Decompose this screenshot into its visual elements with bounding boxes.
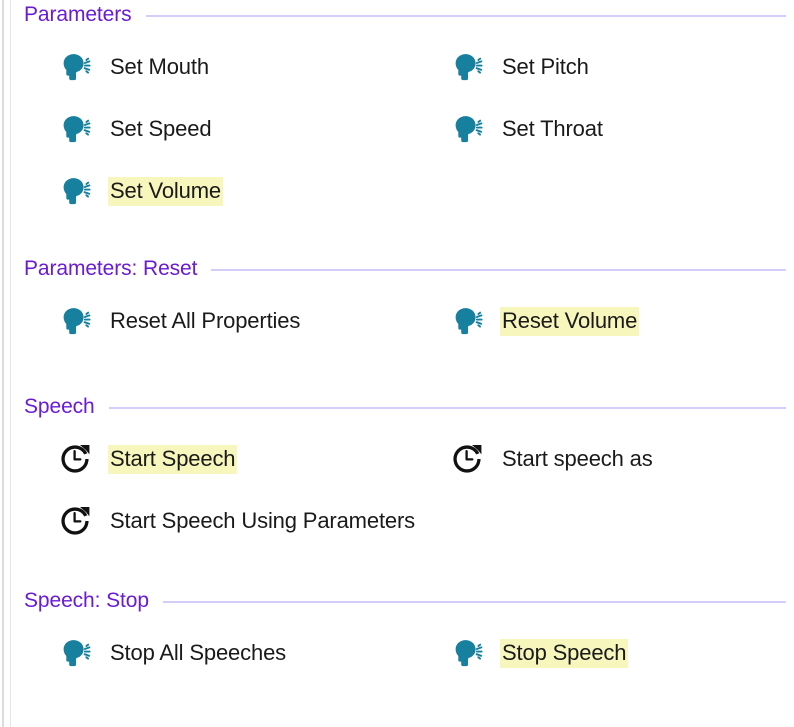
palette-item[interactable]: Reset All Properties	[58, 304, 302, 338]
palette-cell: Set Mouth	[0, 36, 425, 98]
palette-item[interactable]: Set Pitch	[450, 50, 591, 84]
speaking-head-icon	[450, 50, 484, 84]
palette-cell: Set Throat	[425, 98, 794, 160]
section-title: Speech: Stop	[24, 589, 149, 613]
section-items: Reset All PropertiesReset Volume	[0, 284, 794, 352]
palette-item-label[interactable]: Start Speech Using Parameters	[108, 507, 417, 536]
palette-item-label[interactable]: Start speech as	[500, 445, 655, 474]
section-header: Parameters: Reset	[0, 254, 794, 284]
palette-row: Set SpeedSet Throat	[0, 98, 794, 160]
palette-row: Start SpeechStart speech as	[0, 428, 794, 490]
palette-item-label[interactable]: Set Mouth	[108, 53, 211, 82]
palette-cell: Set Volume	[0, 160, 425, 222]
speaking-head-icon	[58, 636, 92, 670]
section-items: Stop All SpeechesStop Speech	[0, 616, 794, 684]
speaking-head-icon	[450, 304, 484, 338]
section-items: Start SpeechStart speech asStart Speech …	[0, 422, 794, 552]
palette-row: Set Volume	[0, 160, 794, 222]
palette-cell: Reset All Properties	[0, 290, 425, 352]
palette-cell: Start Speech	[0, 428, 425, 490]
clock-restore-icon	[58, 442, 92, 476]
speaking-head-icon	[58, 304, 92, 338]
palette-section: Parameters: ResetReset All PropertiesRes…	[0, 254, 794, 352]
palette-item-label[interactable]: Set Throat	[500, 115, 605, 144]
clock-restore-icon	[450, 442, 484, 476]
speaking-head-icon	[450, 112, 484, 146]
palette-item[interactable]: Set Speed	[58, 112, 213, 146]
palette-item-label[interactable]: Start Speech	[108, 445, 237, 474]
palette-item-label[interactable]: Stop All Speeches	[108, 639, 288, 668]
section-title: Speech	[24, 395, 95, 419]
section-divider	[163, 601, 786, 603]
palette-item[interactable]: Set Mouth	[58, 50, 211, 84]
palette-item[interactable]: Set Throat	[450, 112, 605, 146]
palette-item[interactable]: Start Speech	[58, 442, 237, 476]
section-divider	[211, 269, 786, 271]
palette-row: Reset All PropertiesReset Volume	[0, 290, 794, 352]
clock-restore-icon	[58, 504, 92, 538]
palette-item[interactable]: Stop Speech	[450, 636, 628, 670]
palette-row: Stop All SpeechesStop Speech	[0, 622, 794, 684]
palette-cell: Start speech as	[425, 428, 794, 490]
section-header: Speech: Stop	[0, 586, 794, 616]
palette-cell: Set Pitch	[425, 36, 794, 98]
palette-cell: Start Speech Using Parameters	[0, 490, 425, 552]
block-palette: ParametersSet MouthSet PitchSet SpeedSet…	[0, 0, 794, 727]
palette-item[interactable]: Set Volume	[58, 174, 223, 208]
palette-item-label[interactable]: Reset All Properties	[108, 307, 302, 336]
palette-item-label[interactable]: Set Volume	[108, 177, 223, 206]
palette-row: Start Speech Using Parameters	[0, 490, 794, 552]
palette-cell: Reset Volume	[425, 290, 794, 352]
palette-section: Speech: StopStop All SpeechesStop Speech	[0, 586, 794, 684]
palette-item[interactable]: Start speech as	[450, 442, 655, 476]
palette-item-label[interactable]: Reset Volume	[500, 307, 639, 336]
palette-cell: Stop Speech	[425, 622, 794, 684]
palette-section: SpeechStart SpeechStart speech asStart S…	[0, 392, 794, 552]
section-divider	[109, 407, 786, 409]
palette-cell: Stop All Speeches	[0, 622, 425, 684]
palette-item[interactable]: Stop All Speeches	[58, 636, 288, 670]
speaking-head-icon	[450, 636, 484, 670]
speaking-head-icon	[58, 112, 92, 146]
palette-item[interactable]: Reset Volume	[450, 304, 639, 338]
section-title: Parameters	[24, 3, 132, 27]
section-header: Speech	[0, 392, 794, 422]
section-header: Parameters	[0, 0, 794, 30]
speaking-head-icon	[58, 50, 92, 84]
palette-row: Set MouthSet Pitch	[0, 36, 794, 98]
palette-item-label[interactable]: Set Speed	[108, 115, 213, 144]
palette-item-label[interactable]: Stop Speech	[500, 639, 628, 668]
palette-item-label[interactable]: Set Pitch	[500, 53, 591, 82]
speaking-head-icon	[58, 174, 92, 208]
palette-section: ParametersSet MouthSet PitchSet SpeedSet…	[0, 0, 794, 222]
section-title: Parameters: Reset	[24, 257, 197, 281]
section-items: Set MouthSet PitchSet SpeedSet ThroatSet…	[0, 30, 794, 222]
section-divider	[146, 15, 786, 17]
palette-item[interactable]: Start Speech Using Parameters	[58, 504, 417, 538]
palette-cell: Set Speed	[0, 98, 425, 160]
